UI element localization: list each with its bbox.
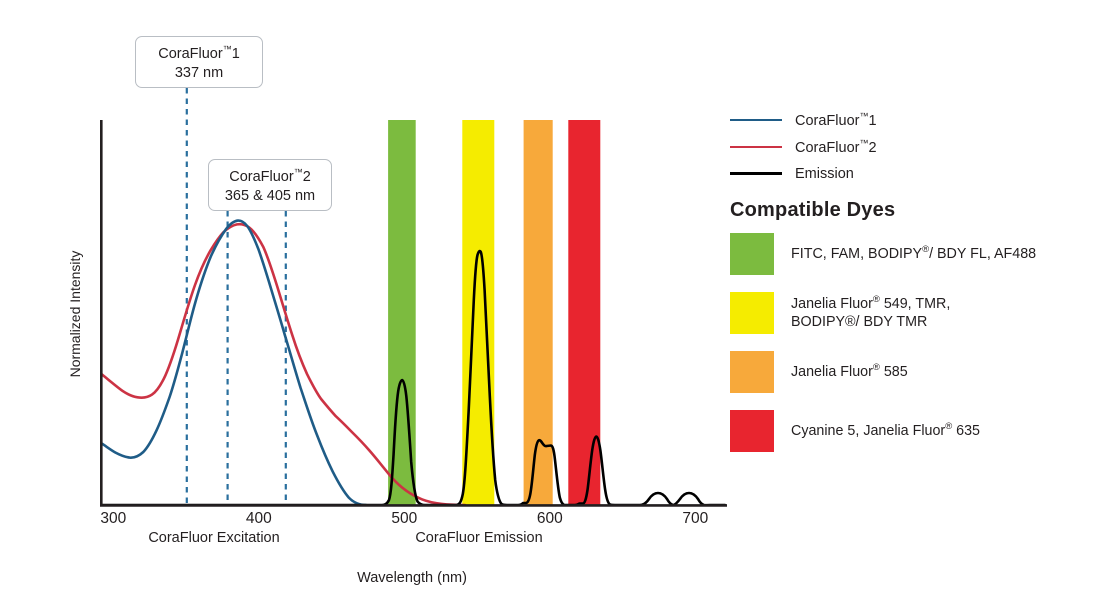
dye-row-green: FITC, FAM, BODIPY®/ BDY FL, AF488	[730, 233, 1100, 275]
excitation-dashed-lines	[187, 88, 286, 505]
series-legend: CoraFluor™1 CoraFluor™2 Emission	[730, 106, 1090, 187]
dye-label-green: FITC, FAM, BODIPY®/ BDY FL, AF488	[791, 244, 1036, 264]
band-orange	[524, 120, 553, 505]
legend-item-corafluor1: CoraFluor™1	[730, 106, 1090, 133]
legend-label-corafluor2: CoraFluor™2	[795, 138, 877, 156]
x-sublabel-emission: CoraFluor Emission	[415, 530, 542, 546]
dye-swatch-green	[730, 233, 774, 275]
x-tick-600: 600	[537, 510, 563, 527]
compatible-dyes-list: FITC, FAM, BODIPY®/ BDY FL, AF488 Janeli…	[730, 233, 1100, 469]
x-sublabel-excitation: CoraFluor Excitation	[148, 530, 279, 546]
corafluor1-callout-line1: CoraFluor™1	[136, 44, 262, 64]
dye-row-red: Cyanine 5, Janelia Fluor® 635	[730, 410, 1100, 452]
x-tick-500: 500	[391, 510, 417, 527]
legend-item-emission: Emission	[730, 160, 1090, 187]
legend-label-corafluor1: CoraFluor™1	[795, 111, 877, 129]
emission-bands	[388, 120, 600, 505]
legend-line-emission	[730, 172, 782, 175]
spectra-figure: 300 400 500 600 700 CoraFluor Excitation…	[0, 0, 1110, 612]
band-red	[568, 120, 600, 505]
dye-label-orange: Janelia Fluor® 585	[791, 362, 908, 382]
x-tick-300: 300	[100, 510, 126, 527]
x-tick-400: 400	[246, 510, 272, 527]
x-axis-title: Wavelength (nm)	[357, 570, 467, 586]
legend-item-corafluor2: CoraFluor™2	[730, 133, 1090, 160]
legend-label-emission: Emission	[795, 166, 854, 182]
dye-swatch-red	[730, 410, 774, 452]
dye-label-red: Cyanine 5, Janelia Fluor® 635	[791, 421, 980, 441]
corafluor1-callout: CoraFluor™1 337 nm	[135, 36, 263, 88]
curve-corafluor1	[102, 221, 366, 505]
compatible-dyes-title: Compatible Dyes	[730, 199, 895, 222]
corafluor1-callout-line2: 337 nm	[136, 64, 262, 83]
corafluor2-callout-line2: 365 & 405 nm	[209, 187, 331, 206]
dye-swatch-yellow	[730, 292, 774, 334]
dye-swatch-orange	[730, 351, 774, 393]
band-green	[388, 120, 416, 505]
corafluor2-callout: CoraFluor™2 365 & 405 nm	[208, 159, 332, 211]
corafluor2-callout-line1: CoraFluor™2	[209, 167, 331, 187]
dye-row-orange: Janelia Fluor® 585	[730, 351, 1100, 393]
legend-line-corafluor1	[730, 119, 782, 121]
x-tick-700: 700	[682, 510, 708, 527]
y-axis-title: Normalized Intensity	[67, 251, 83, 378]
legend-line-corafluor2	[730, 146, 782, 148]
x-tick-labels: 300 400 500 600 700	[100, 510, 708, 527]
dye-label-yellow: Janelia Fluor® 549, TMR,BODIPY®/ BDY TMR	[791, 294, 950, 332]
dye-row-yellow: Janelia Fluor® 549, TMR,BODIPY®/ BDY TMR	[730, 292, 1100, 334]
